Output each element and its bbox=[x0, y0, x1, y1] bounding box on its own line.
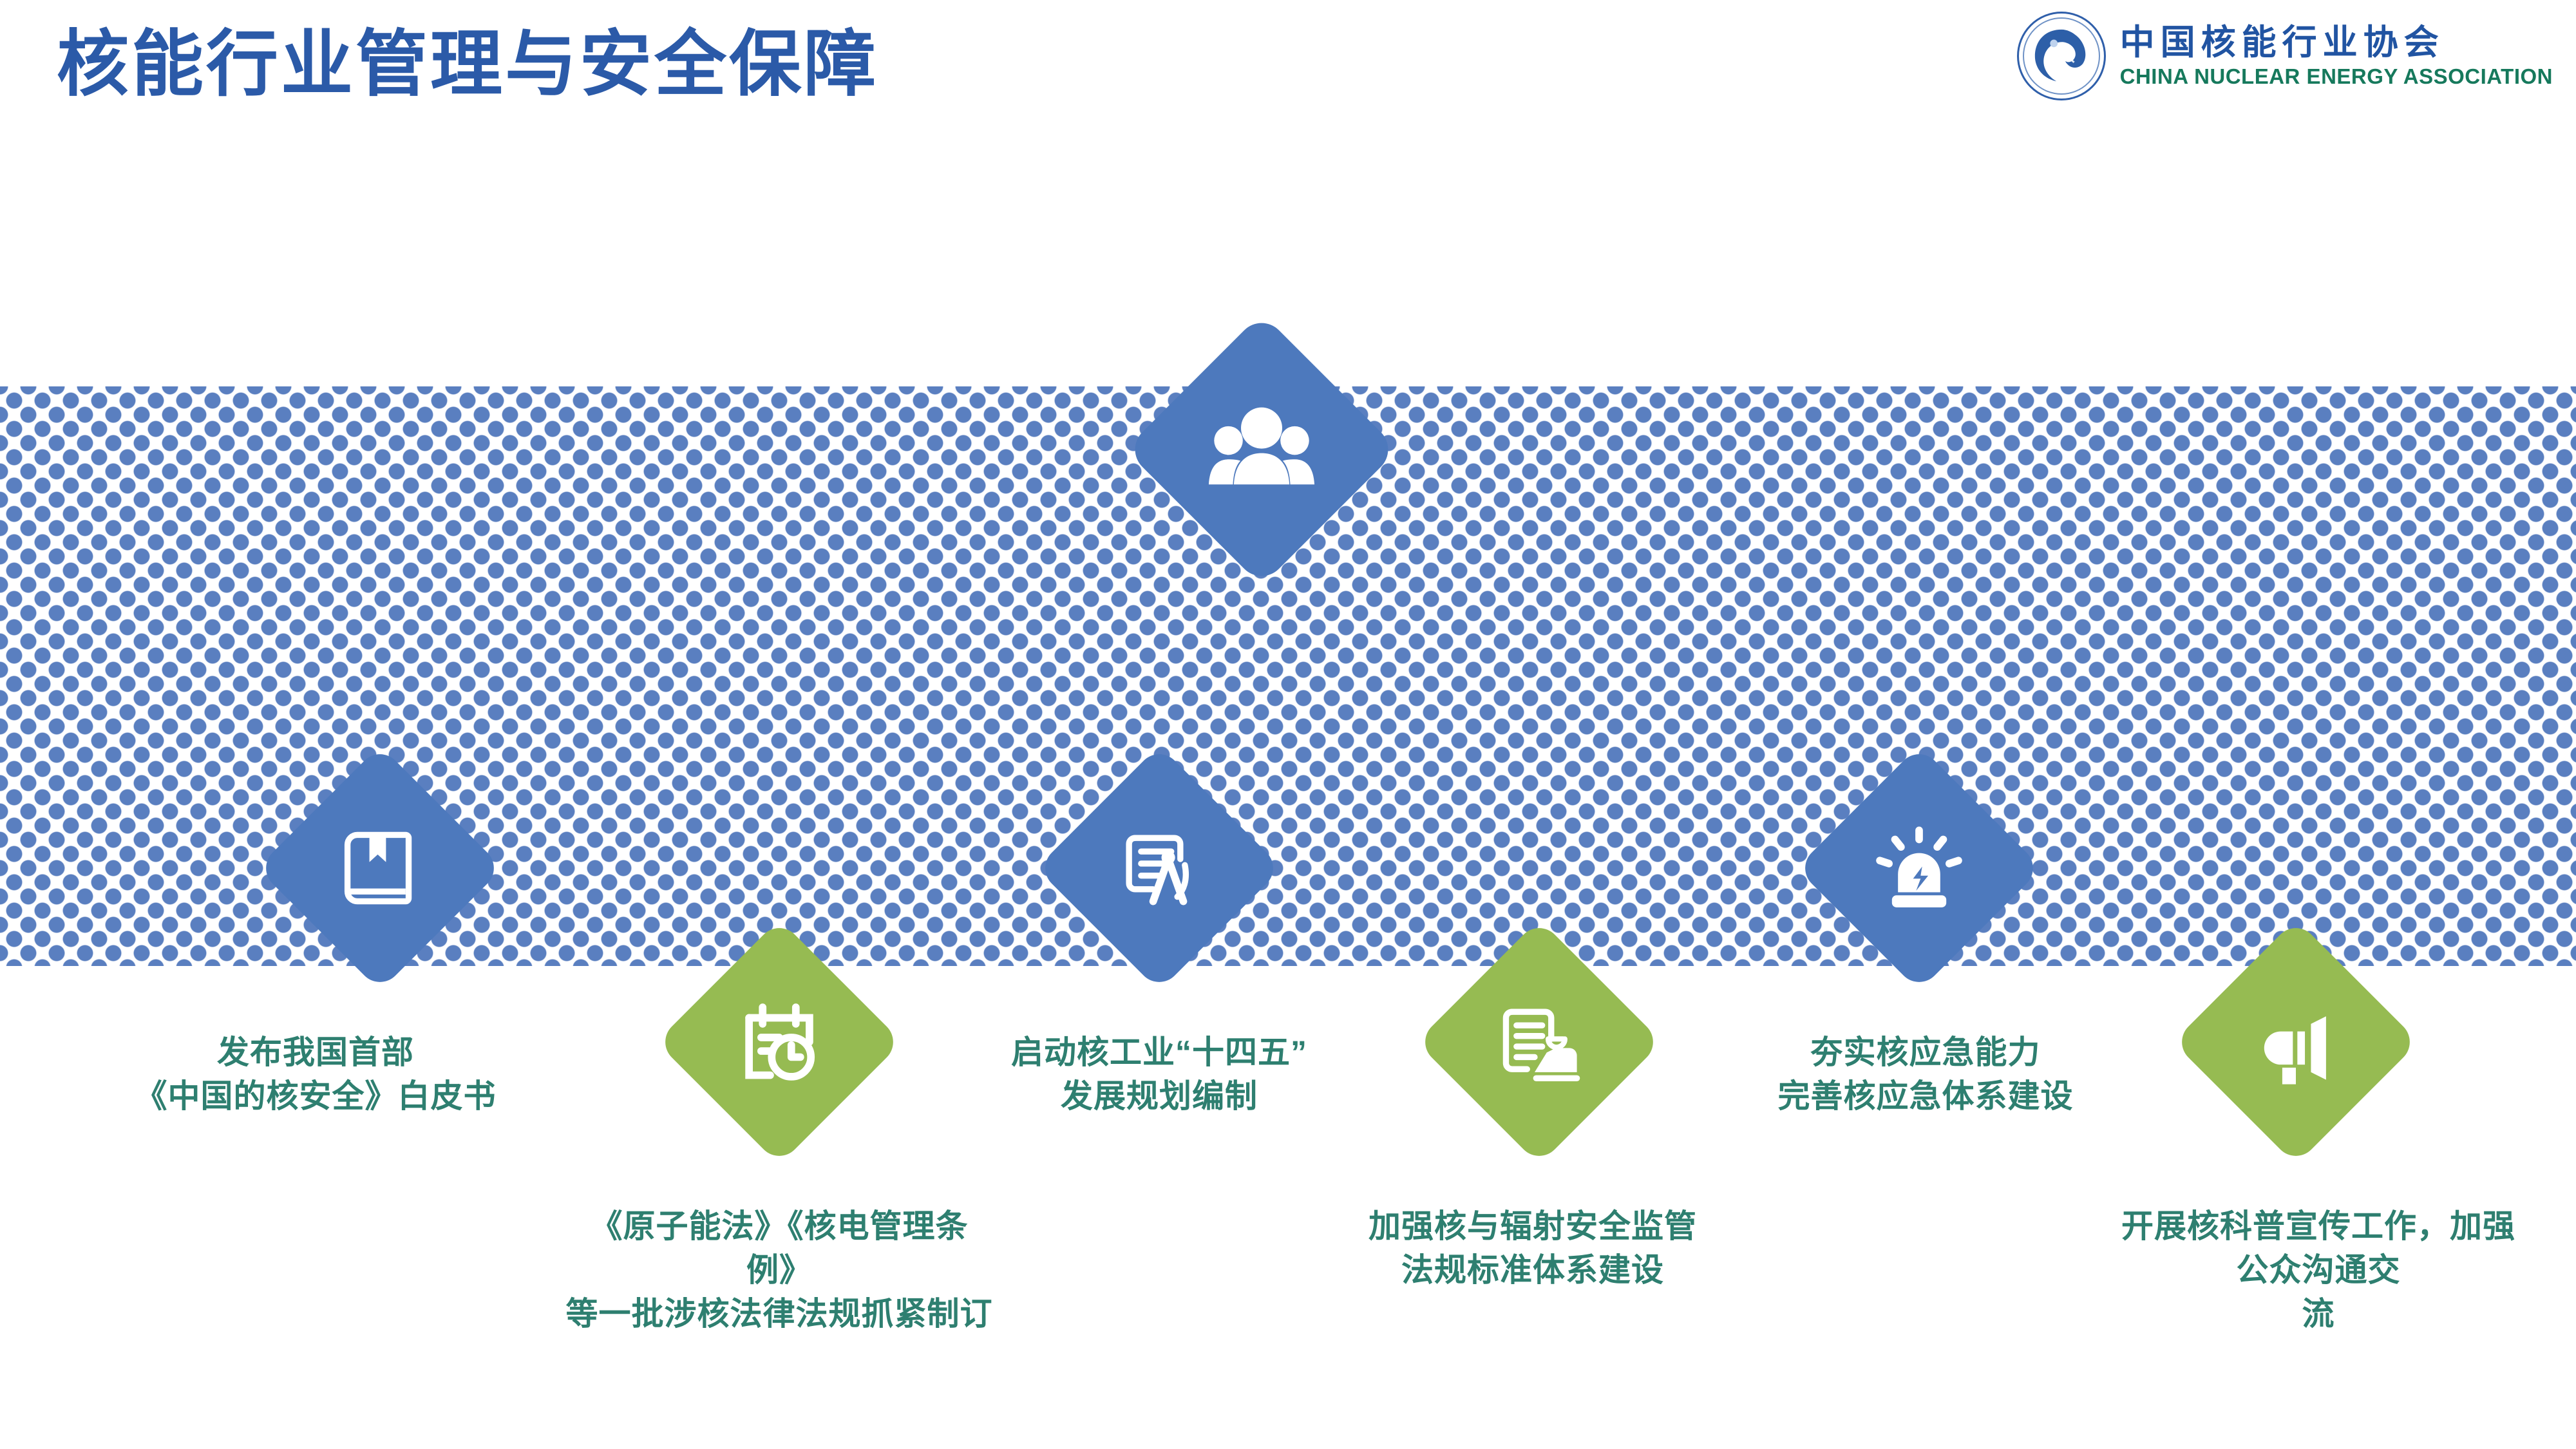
calendar-clock-icon bbox=[731, 994, 828, 1090]
caption-line: 加强核与辐射安全监管 bbox=[1275, 1204, 1790, 1248]
document-inspector-icon bbox=[1491, 994, 1587, 1090]
caption-line: 流 bbox=[2119, 1292, 2518, 1336]
alarm-siren-icon bbox=[1871, 820, 1967, 916]
page-title: 核能行业管理与安全保障 bbox=[57, 24, 878, 104]
nuclear-association-emblem-icon bbox=[2017, 12, 2106, 100]
caption-line: 完善核应急体系建设 bbox=[1668, 1074, 2183, 1118]
logo-name-cn: 中国核能行业协会 bbox=[2120, 25, 2553, 60]
caption-public-outreach: 开展核科普宣传工作，加强公众沟通交 流 bbox=[2119, 1204, 2518, 1336]
caption-line: 例》 bbox=[489, 1248, 1069, 1292]
emblem-swoosh-icon bbox=[2030, 24, 2093, 88]
caption-line: 法规标准体系建设 bbox=[1275, 1248, 1790, 1292]
slide-canvas: 核能行业管理与安全保障 中国核能行业协会 CHINA NUCLEAR ENERG… bbox=[0, 0, 2576, 1449]
caption-line: 发展规划编制 bbox=[921, 1074, 1397, 1118]
association-logo: 中国核能行业协会 CHINA NUCLEAR ENERGY ASSOCIATIO… bbox=[2017, 12, 2553, 100]
caption-line: 《中国的核安全》白皮书 bbox=[90, 1074, 541, 1118]
caption-legislation: 《原子能法》《核电管理条 例》 等一批涉核法律法规抓紧制订 bbox=[489, 1204, 1069, 1336]
caption-safety-supervision: 加强核与辐射安全监管 法规标准体系建设 bbox=[1275, 1204, 1790, 1292]
logo-name-en: CHINA NUCLEAR ENERGY ASSOCIATION bbox=[2120, 66, 2553, 87]
caption-line: 《原子能法》《核电管理条 bbox=[489, 1204, 1069, 1248]
book-bookmark-icon bbox=[332, 820, 428, 916]
document-compass-icon bbox=[1111, 820, 1207, 916]
caption-five-year-plan: 启动核工业“十四五” 发展规划编制 bbox=[921, 1030, 1397, 1118]
caption-line: 夯实核应急能力 bbox=[1668, 1030, 2183, 1074]
caption-line: 开展核科普宣传工作，加强公众沟通交 bbox=[2119, 1204, 2518, 1292]
megaphone-icon bbox=[2248, 994, 2344, 1090]
caption-line: 发布我国首部 bbox=[90, 1030, 541, 1074]
caption-line: 等一批涉核法律法规抓紧制订 bbox=[489, 1292, 1069, 1336]
caption-emergency-capability: 夯实核应急能力 完善核应急体系建设 bbox=[1668, 1030, 2183, 1118]
caption-line: 启动核工业“十四五” bbox=[921, 1030, 1397, 1074]
people-group-icon bbox=[1204, 392, 1319, 507]
caption-white-paper: 发布我国首部 《中国的核安全》白皮书 bbox=[90, 1030, 541, 1118]
